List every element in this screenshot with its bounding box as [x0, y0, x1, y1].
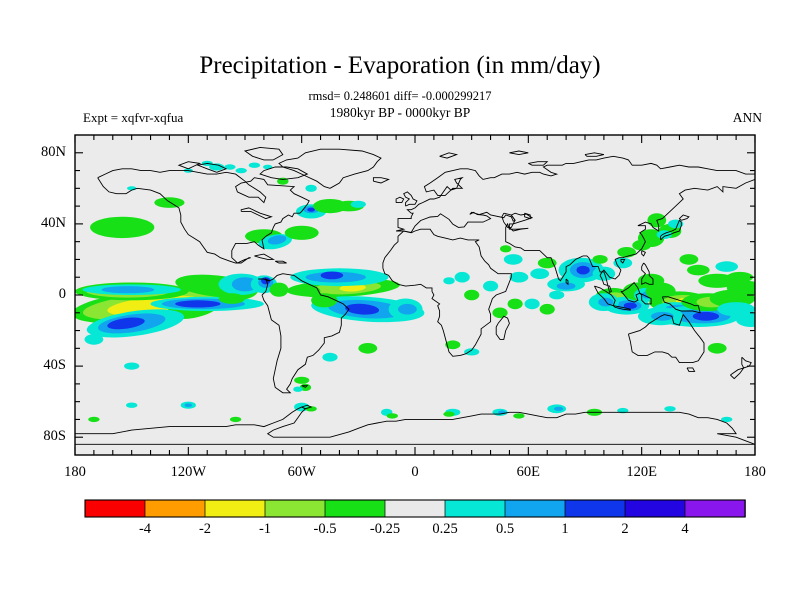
x-tick-label: 120E	[602, 464, 682, 481]
y-tick-label: 0	[14, 286, 66, 303]
y-tick-label: 80S	[14, 428, 66, 445]
y-tick-label: 80N	[14, 144, 66, 161]
x-tick-label: 120W	[148, 464, 228, 481]
y-tick-label: 40N	[14, 215, 66, 232]
x-tick-label: 0	[375, 464, 455, 481]
x-tick-label: 180	[35, 464, 115, 481]
map-plot	[0, 0, 800, 600]
y-tick-label: 40S	[14, 357, 66, 374]
colorbar	[85, 500, 745, 517]
x-tick-label: 180	[715, 464, 795, 481]
colorbar-tick-label: 4	[645, 521, 725, 538]
x-tick-label: 60W	[262, 464, 342, 481]
x-tick-label: 60E	[488, 464, 568, 481]
figure-canvas: Precipitation - Evaporation (in mm/day) …	[0, 0, 800, 600]
